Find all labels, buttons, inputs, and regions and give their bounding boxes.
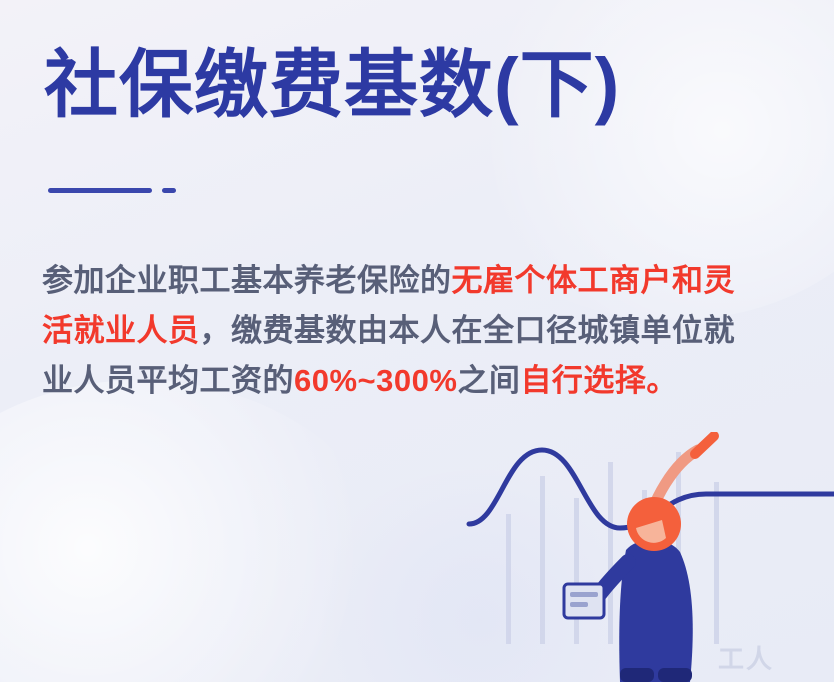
background-blob-left (0, 380, 400, 682)
page-title: 社保缴费基数(下) (44, 44, 620, 127)
body-paragraph: 参加企业职工基本养老保险的无雇个体工商户和灵活就业人员，缴费基数由本人在全口径城… (42, 256, 750, 407)
body-segment-4: 之间 (457, 363, 520, 398)
body-segment-5: 自行选择。 (520, 363, 678, 398)
title-underline (48, 188, 152, 193)
body-segment-0: 参加企业职工基本养老保险的 (42, 263, 452, 298)
tablet-icon (564, 584, 604, 618)
title-underline-dash (162, 188, 176, 193)
body-segment-3: 60%~300% (294, 363, 457, 398)
person-icon (564, 436, 714, 682)
pen-icon (695, 436, 714, 454)
watermark: 工人 (718, 639, 774, 676)
poster-canvas: 社保缴费基数(下) 参加企业职工基本养老保险的无雇个体工商户和灵活就业人员，缴费… (0, 0, 834, 682)
